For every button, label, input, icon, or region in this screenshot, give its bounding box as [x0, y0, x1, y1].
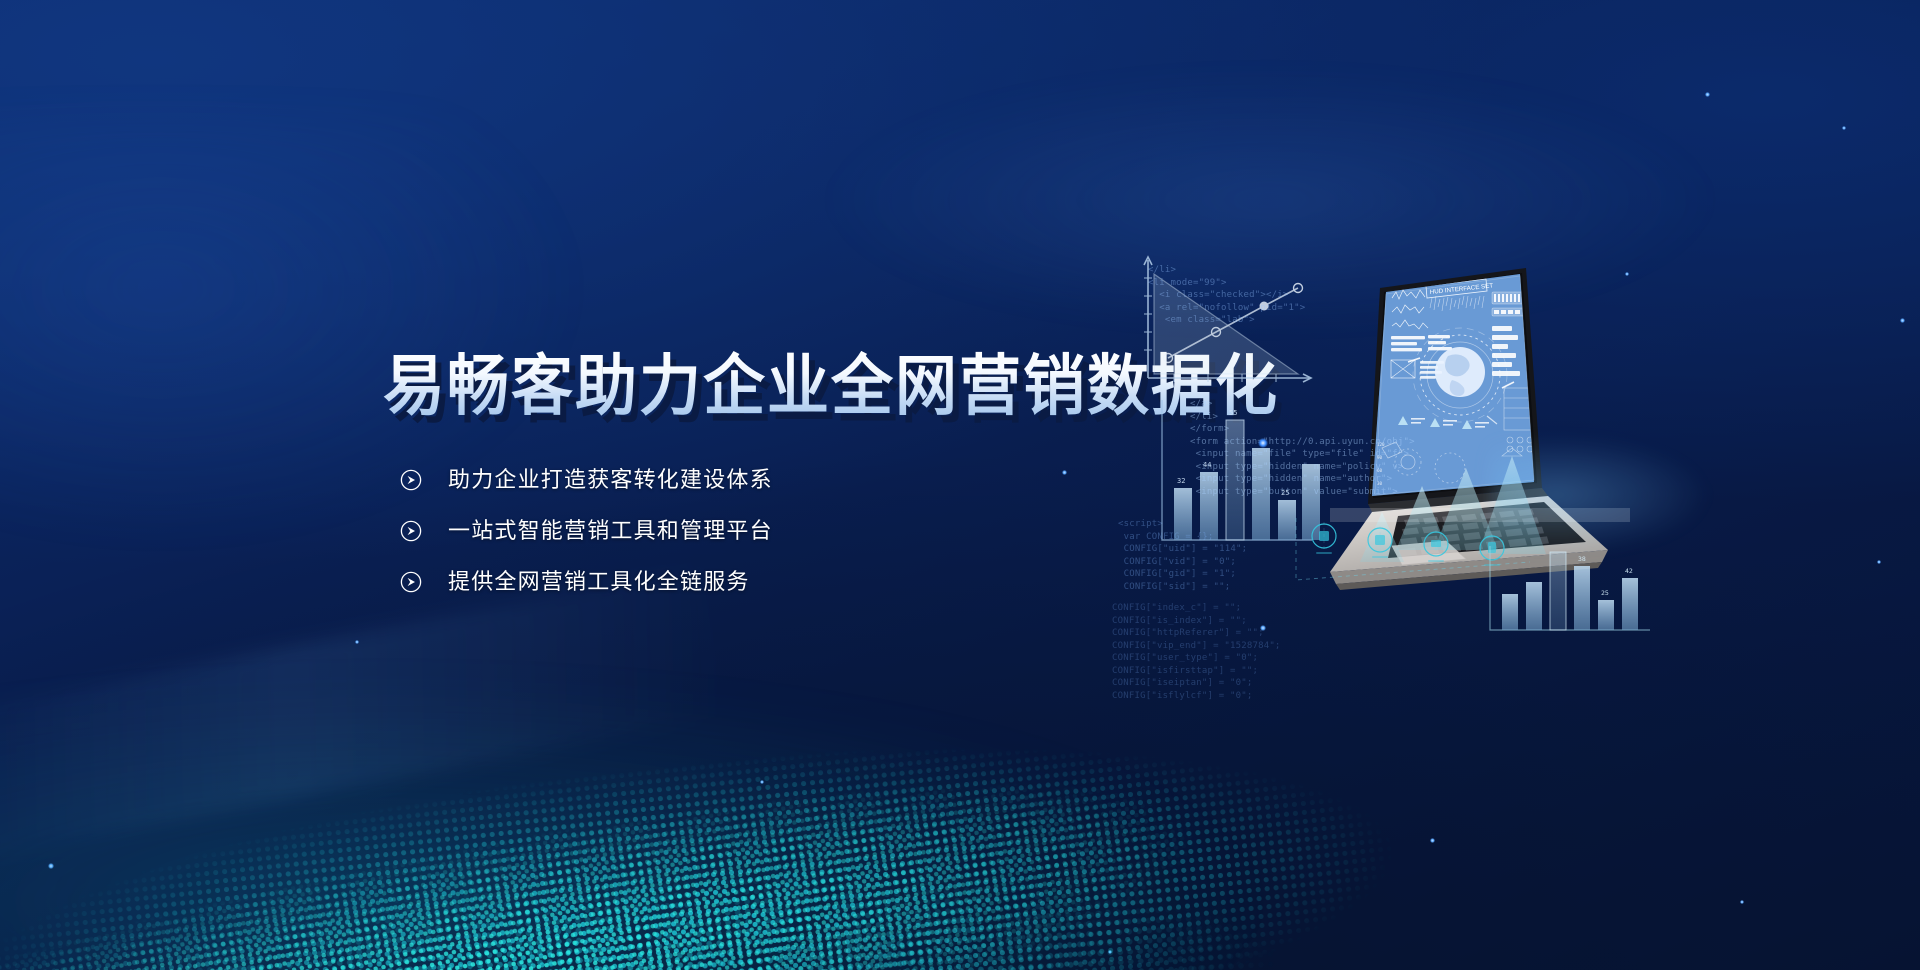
svg-text:25: 25 — [1601, 589, 1609, 597]
svg-text:42: 42 — [1625, 567, 1633, 575]
svg-text:38: 38 — [1578, 555, 1586, 563]
wave-glow — [0, 670, 1300, 970]
data-visualization-illustration: </li> <li mode="99"> <i class="checked">… — [1130, 250, 1690, 670]
hero-banner: 易畅客助力企业全网营销数据化 易畅客助力企业全网营销数据化 助力企业打造获客转化… — [0, 0, 1920, 970]
particle-dot — [48, 863, 54, 869]
accent-glow-dot — [1258, 438, 1268, 448]
svg-text:90: 90 — [1377, 455, 1383, 460]
wave-layer-back — [148, 723, 1920, 970]
list-item-label: 一站式智能营销工具和管理平台 — [448, 514, 773, 548]
particle-dot — [1108, 950, 1112, 954]
particle-dot — [355, 640, 359, 644]
svg-text:44: 44 — [1203, 461, 1211, 469]
particle-dot — [1705, 92, 1710, 97]
chevron-right-circle-icon — [400, 520, 422, 542]
svg-text:30: 30 — [1377, 481, 1383, 486]
background-streak — [0, 567, 727, 863]
particle-dot — [1877, 560, 1881, 564]
particle-dot — [1430, 838, 1435, 843]
particle-dot — [760, 780, 764, 784]
particle-dot — [1062, 470, 1067, 475]
particle-dot — [1740, 900, 1744, 904]
svg-text:55: 55 — [1229, 409, 1237, 417]
line-chart-trend — [1144, 257, 1311, 382]
chevron-right-circle-icon — [400, 469, 422, 491]
particle-dot — [1842, 126, 1846, 130]
list-item-label: 提供全网营销工具化全链服务 — [448, 565, 750, 599]
svg-text:25: 25 — [1281, 489, 1289, 497]
list-item-label: 助力企业打造获客转化建设体系 — [448, 463, 773, 497]
list-item[interactable]: 提供全网营销工具化全链服务 — [400, 565, 773, 599]
list-item[interactable]: 一站式智能营销工具和管理平台 — [400, 514, 773, 548]
chevron-right-circle-icon — [400, 571, 422, 593]
feature-list: 助力企业打造获客转化建设体系 一站式智能营销工具和管理平台 提供全网营销工具化全… — [400, 463, 773, 599]
particle-dot — [1900, 318, 1905, 323]
list-item[interactable]: 助力企业打造获客转化建设体系 — [400, 463, 773, 497]
illustration-canvas: 32 44 55 25 — [1130, 250, 1690, 670]
svg-text:32: 32 — [1177, 477, 1185, 485]
svg-text:60: 60 — [1377, 468, 1383, 473]
